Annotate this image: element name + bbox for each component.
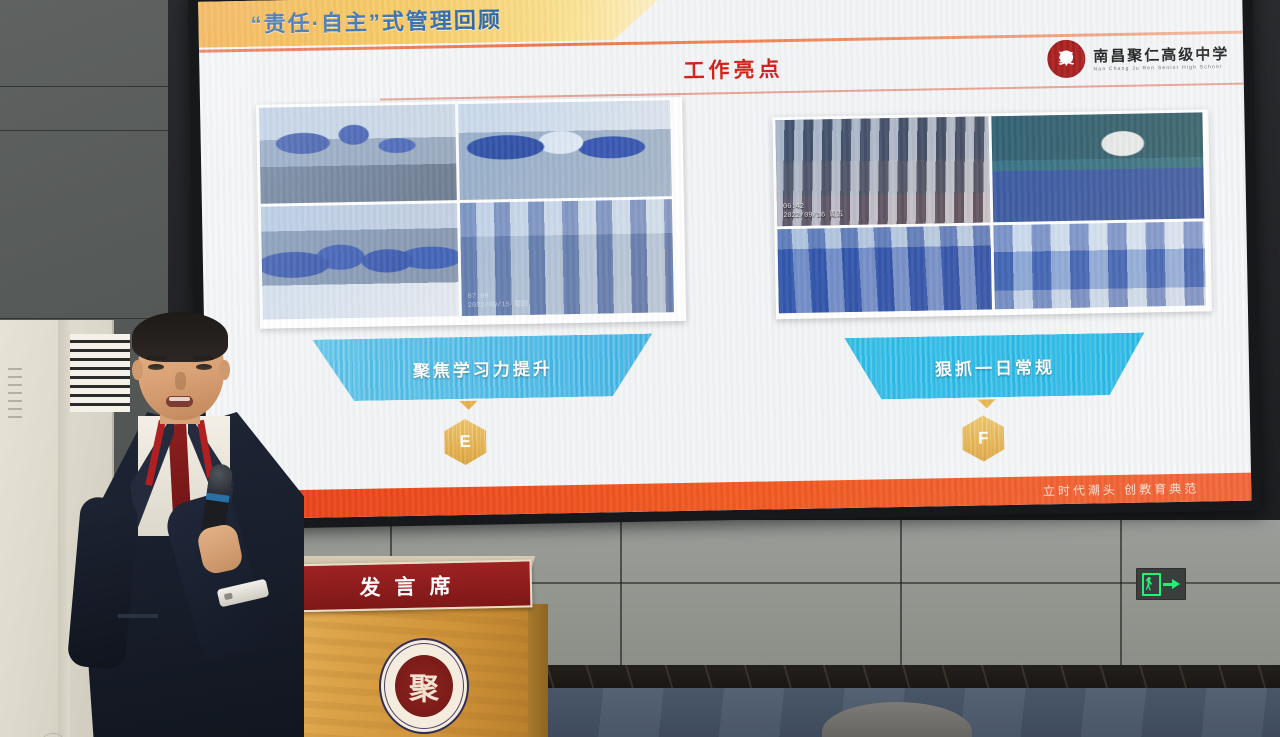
banner-text: 聚焦学习力提升 (413, 354, 553, 382)
banner-label-e: 聚焦学习力提升 (312, 334, 653, 402)
nose (175, 372, 186, 390)
eyebrow-right (194, 356, 214, 360)
podium-side-edge (528, 604, 548, 737)
projection-screen-frame: “责任·自主”式管理回顾 工作亮点 聚 南昌聚仁高级中学 Nan Chang J… (188, 0, 1262, 530)
podium-sign: 发言席 (278, 559, 533, 612)
slide-footer-text: 立时代潮头 创教育典范 (1043, 479, 1200, 499)
photo-thumbnail (261, 203, 459, 320)
photo-thumbnail (259, 104, 457, 204)
photo-thumbnail (991, 112, 1204, 222)
exit-sign-icon (1136, 568, 1186, 600)
hex-badge-f: F (962, 415, 1005, 462)
photo-thumbnail: 07:09 2022/09/15 周四 (460, 199, 674, 316)
ear-left (132, 360, 143, 380)
photo-timestamp: 07:09 2022/09/15 周四 (468, 292, 529, 311)
photo-thumbnail (777, 225, 992, 313)
banner-label-f: 狠抓一日常规 (844, 333, 1145, 400)
jacket-pocket (118, 614, 158, 618)
eye-left (148, 364, 164, 370)
school-logo: 聚 南昌聚仁高级中学 Nan Chang Ju Ren Senior High … (1047, 37, 1230, 78)
photo-timestamp: 06:42 2022/09/16 周五 (783, 202, 844, 221)
hair (132, 312, 228, 362)
podium-emblem-icon: 聚 (379, 638, 469, 734)
seal-character: 聚 (1059, 51, 1074, 66)
slide-footer-bar: 立时代潮头 创教育典范 (207, 473, 1251, 520)
presenter-person (78, 312, 313, 737)
photo-thumbnail (993, 221, 1206, 309)
mouth (166, 396, 193, 407)
logo-underline (380, 83, 1244, 101)
projected-slide: “责任·自主”式管理回顾 工作亮点 聚 南昌聚仁高级中学 Nan Chang J… (198, 0, 1251, 520)
school-seal-icon: 聚 (1047, 40, 1086, 79)
ear-right (219, 360, 230, 380)
photo-collage-left: 07:09 2022/09/15 周四 (256, 97, 686, 329)
school-name-cn: 南昌聚仁高级中学 (1093, 42, 1229, 65)
podium-sign-text: 发言席 (345, 570, 465, 602)
banner-arrow-f-icon (978, 399, 996, 408)
banner-text: 狠抓一日常规 (935, 353, 1055, 380)
photo-collage-right: 06:42 2022/09/16 周五 (772, 109, 1212, 319)
photo-thumbnail: 06:42 2022/09/16 周五 (775, 116, 990, 226)
hex-badge-e: E (444, 419, 487, 466)
conference-room-scene: “责任·自主”式管理回顾 工作亮点 聚 南昌聚仁高级中学 Nan Chang J… (0, 0, 1280, 737)
eyebrow-left (146, 356, 166, 360)
slide-header-title: “责任·自主”式管理回顾 (250, 2, 502, 39)
section-title: 工作亮点 (683, 53, 784, 85)
microphone-grille (207, 463, 234, 496)
hex-letter: F (978, 428, 989, 448)
hex-letter: E (459, 432, 471, 452)
photo-thumbnail (458, 100, 672, 200)
banner-arrow-e-icon (460, 401, 478, 410)
eye-right (196, 364, 212, 370)
